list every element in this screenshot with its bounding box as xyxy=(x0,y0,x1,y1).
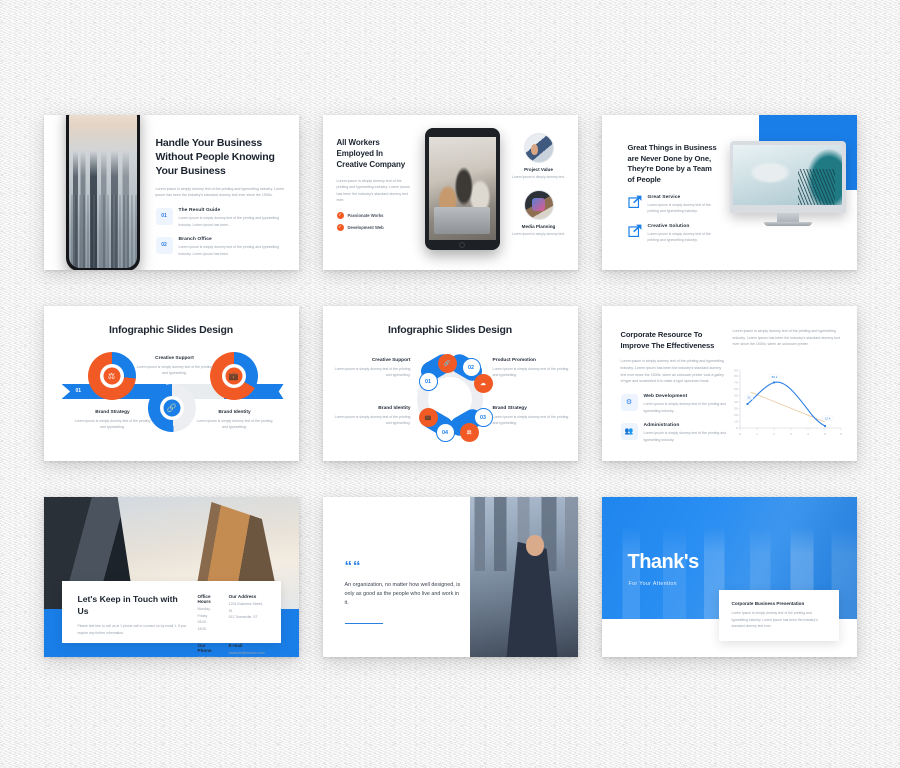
label-text: Lorem ipsum is simply dummy text of the … xyxy=(196,418,274,431)
feature-title: Branch Office xyxy=(179,237,287,242)
label-text: Lorem ipsum is simply dummy text of the … xyxy=(335,366,411,379)
svg-text:30: 30 xyxy=(734,407,738,411)
slide-infographic-ribbon[interactable]: Infographic Slides Design 01 02 03 04 ⚖ … xyxy=(44,306,299,461)
slide1-feature-2[interactable]: 02 Branch Office Lorem ipsum is simply d… xyxy=(156,237,287,257)
line-chart-svg: 01020 304050 607080 90 xyxy=(727,366,845,440)
slide2-cards: Project Value Lorem ipsum is simply dumm… xyxy=(510,133,568,237)
node-number-04: 04 xyxy=(436,423,455,442)
slide2-check-1: ✓ Passionate Works xyxy=(337,212,411,219)
slide-great-things[interactable]: Great Things in Business are Never Done … xyxy=(602,115,857,270)
column-line: 1234 Business Street, St xyxy=(229,601,265,614)
number-badge-icon: 01 xyxy=(156,208,173,225)
contact-col-email: E-mail example@domain.com example@domain… xyxy=(229,643,265,657)
slide5-title: Infographic Slides Design xyxy=(323,306,578,336)
slide6-feature-2[interactable]: 👥 Administration Lorem ipsum is simply d… xyxy=(621,423,727,443)
slide1-feature-1[interactable]: 01 The Result Guide Lorem ipsum is simpl… xyxy=(156,208,287,228)
slide2-card-2: Media Planning Lorem ipsum is simply dum… xyxy=(510,190,568,237)
slide1-content: Handle Your Business Without People Know… xyxy=(156,137,287,257)
svg-text:40: 40 xyxy=(734,400,738,404)
slide2-content: All Workers Employed In Creative Company… xyxy=(337,137,411,231)
svg-text:90: 90 xyxy=(734,369,738,373)
feature-text: Lorem ipsum is simply dummy text of the … xyxy=(648,202,720,215)
contact-col-address: Our Address 1234 Business Street, St 512… xyxy=(229,594,265,633)
slide6-content: Corporate Resource To Improve The Effect… xyxy=(621,330,727,443)
svg-text:4: 4 xyxy=(807,432,809,436)
svg-text:2: 2 xyxy=(773,432,775,436)
node-number-02: 02 xyxy=(462,358,481,377)
tablet-mockup xyxy=(425,128,500,250)
imac-stand-neck xyxy=(777,213,799,222)
slide3-title: Great Things in Business are Never Done … xyxy=(628,143,720,186)
column-heading: E-mail xyxy=(229,643,265,648)
imac-screen-architecture-photo xyxy=(733,145,842,206)
check-circle-icon: ✓ xyxy=(337,212,344,219)
contact-col-phone: Our Phone (123) 4567 - 8910 (123) 4567 8… xyxy=(198,643,217,657)
donut-chart-3: 💼 xyxy=(210,352,258,400)
slide6-right-paragraph-wrap: Lorem ipsum is simply dummy text of the … xyxy=(733,328,843,348)
thanks-title: Thank's xyxy=(628,551,699,574)
step-number: 01 xyxy=(76,388,82,394)
circle-label-brand-strategy: Brand Strategy Lorem ipsum is simply dum… xyxy=(493,406,569,426)
node-icon-cloud: ☁ xyxy=(474,374,493,393)
businessman-photo xyxy=(470,497,578,657)
donut-chart-2: 🔗 xyxy=(148,384,196,432)
svg-text:60: 60 xyxy=(734,387,738,391)
check-circle-icon: ✓ xyxy=(337,224,344,231)
node-icon-handshake: ⚖ xyxy=(460,423,479,442)
thanks-card: Corporate Business Presentation Lorem ip… xyxy=(719,590,839,641)
svg-text:0: 0 xyxy=(739,432,741,436)
contact-card: Let's Keep in Touch with Us Please feel … xyxy=(62,581,281,643)
external-link-icon xyxy=(628,195,643,208)
column-line: example@domain.com xyxy=(229,650,265,657)
slide-infographic-circle[interactable]: Infographic Slides Design 🔗 02 01 ☁ 💼 03… xyxy=(323,306,578,461)
number-badge-icon: 02 xyxy=(156,237,173,254)
svg-text:80: 80 xyxy=(734,374,738,378)
label-text: Lorem ipsum is simply dummy text of the … xyxy=(136,364,214,377)
label-title: Brand Strategy xyxy=(74,410,152,415)
svg-text:70: 70 xyxy=(734,381,738,385)
slide-all-workers[interactable]: All Workers Employed In Creative Company… xyxy=(323,115,578,270)
node-icon-briefcase: 💼 xyxy=(419,408,438,427)
column-heading: Office Hours xyxy=(198,594,217,604)
node-number-03: 03 xyxy=(474,408,493,427)
slide-handle-your-business[interactable]: Handle Your Business Without People Know… xyxy=(44,115,299,270)
feature-text: Lorem ipsum is simply dummy text of the … xyxy=(644,430,727,443)
slide4-title: Infographic Slides Design xyxy=(44,306,299,336)
code-icon: ⚙ xyxy=(621,394,638,411)
infographic-label-brand-strategy: Brand Strategy Lorem ipsum is simply dum… xyxy=(74,410,152,430)
svg-text:12.4: 12.4 xyxy=(824,417,830,421)
imac-screen xyxy=(730,141,846,213)
svg-text:20: 20 xyxy=(734,413,738,417)
feature-text: Lorem ipsum is simply dummy text of the … xyxy=(644,401,727,414)
check-label: Development Web xyxy=(348,225,384,230)
column-heading: Our Address xyxy=(229,594,265,599)
contact-col-office-hours: Office Hours Monday - Friday 08:00 - 18:… xyxy=(198,594,217,633)
slide-keep-in-touch[interactable]: Let's Keep in Touch with Us Please feel … xyxy=(44,497,299,657)
contact-title: Let's Keep in Touch with Us xyxy=(78,594,190,617)
slide1-paragraph: Lorem ipsum is simply dummy text of the … xyxy=(156,186,287,199)
quote-mark-icon: ““ xyxy=(345,559,461,574)
infographic-label-creative-support: Creative Support Lorem ipsum is simply d… xyxy=(136,356,214,376)
imac-stand-base xyxy=(764,222,812,226)
feature-title: Creative Solution xyxy=(648,224,720,229)
link-icon: 🔗 xyxy=(163,400,180,417)
svg-text:3: 3 xyxy=(790,432,792,436)
label-text: Lorem ipsum is simply dummy text of the … xyxy=(493,366,569,379)
slide6-feature-1[interactable]: ⚙ Web Development Lorem ipsum is simply … xyxy=(621,394,727,414)
tablet-home-button xyxy=(459,242,465,248)
briefcase-icon: 💼 xyxy=(225,368,242,385)
feature-title: The Result Guide xyxy=(179,208,287,213)
slide6-right-paragraph: Lorem ipsum is simply dummy text of the … xyxy=(733,328,843,348)
feature-title: Great Service xyxy=(648,195,720,200)
column-line: Monday - Friday xyxy=(198,606,217,619)
thanks-card-text: Lorem ipsum is simply dummy text of the … xyxy=(732,610,826,630)
circle-photo xyxy=(524,133,554,163)
label-title: Brand Identity xyxy=(335,406,411,411)
feature-title: Administration xyxy=(644,423,727,428)
column-heading: Our Phone xyxy=(198,643,217,653)
users-icon: 👥 xyxy=(621,423,638,440)
donut-chart-1: ⚖ xyxy=(88,352,136,400)
thanks-subtitle: For Your Attention xyxy=(629,581,677,587)
handshake-icon: ⚖ xyxy=(103,368,120,385)
svg-text:80.2: 80.2 xyxy=(771,375,777,379)
step-number: 04 xyxy=(268,388,274,394)
slide-corporate-resource[interactable]: Corporate Resource To Improve The Effect… xyxy=(602,306,857,461)
label-text: Lorem ipsum is simply dummy text of the … xyxy=(493,414,569,427)
phone-mockup xyxy=(66,115,140,270)
infographic-label-brand-identity: Brand Identity Lorem ipsum is simply dum… xyxy=(196,410,274,430)
column-line: example@domain.com xyxy=(229,656,265,657)
label-text: Lorem ipsum is simply dummy text of the … xyxy=(335,414,411,427)
feature-text: Lorem ipsum is simply dummy text of the … xyxy=(179,244,287,257)
label-title: Product Promotion xyxy=(493,358,569,363)
tablet-screen-team-photo xyxy=(429,137,496,240)
column-line: 08:00 - 18:00 xyxy=(198,619,217,632)
svg-text:1: 1 xyxy=(756,432,758,436)
circle-label-brand-identity: Brand Identity Lorem ipsum is simply dum… xyxy=(335,406,411,426)
imac-mockup xyxy=(730,141,846,226)
slide2-title: All Workers Employed In Creative Company xyxy=(337,137,411,171)
slide-thanks[interactable]: Thank's For Your Attention Corporate Bus… xyxy=(602,497,857,657)
card-title: Project Value xyxy=(510,167,568,172)
feature-text: Lorem ipsum is simply dummy text of the … xyxy=(648,231,720,244)
contact-note: Please feel free to call us at 1 phone c… xyxy=(78,623,190,636)
label-title: Brand Identity xyxy=(196,410,274,415)
slide2-check-2: ✓ Development Web xyxy=(337,224,411,231)
svg-text:50: 50 xyxy=(734,394,738,398)
thanks-card-title: Corporate Business Presentation xyxy=(732,601,826,606)
svg-text:5: 5 xyxy=(824,432,826,436)
quote-divider xyxy=(345,623,383,624)
label-title: Creative Support xyxy=(335,358,411,363)
card-text: Lorem ipsum is simply dummy text. xyxy=(510,231,568,237)
slide3-feature-1[interactable]: Great Service Lorem ipsum is simply dumm… xyxy=(628,195,720,215)
label-title: Brand Strategy xyxy=(493,406,569,411)
card-text: Lorem ipsum is simply dummy text. xyxy=(510,174,568,180)
slide3-feature-2[interactable]: Creative Solution Lorem ipsum is simply … xyxy=(628,224,720,244)
quote-text: An organization, no matter how well desi… xyxy=(345,581,461,609)
column-line: (123) 4567 - 8910 xyxy=(198,655,217,657)
svg-text:0: 0 xyxy=(735,426,737,430)
slide2-card-1: Project Value Lorem ipsum is simply dumm… xyxy=(510,133,568,180)
slide1-title: Handle Your Business Without People Know… xyxy=(156,137,287,179)
slide-quote[interactable]: ““ An organization, no matter how well d… xyxy=(323,497,578,657)
node-number-01: 01 xyxy=(419,372,438,391)
check-label: Passionate Works xyxy=(348,213,384,218)
slide3-content: Great Things in Business are Never Done … xyxy=(628,143,720,244)
slide-grid: Handle Your Business Without People Know… xyxy=(0,0,900,768)
column-line: 512 Townsville, ST xyxy=(229,614,265,621)
slide6-paragraph: Lorem ipsum is simply dummy text of the … xyxy=(621,358,727,385)
svg-text:10: 10 xyxy=(734,420,738,424)
external-link-icon xyxy=(628,224,643,237)
node-icon-link: 🔗 xyxy=(438,354,457,373)
svg-text:52: 52 xyxy=(747,396,751,400)
circle-label-creative-support: Creative Support Lorem ipsum is simply d… xyxy=(335,358,411,378)
svg-text:6: 6 xyxy=(840,432,842,436)
circle-label-product-promotion: Product Promotion Lorem ipsum is simply … xyxy=(493,358,569,378)
phone-screen-cityscape xyxy=(69,115,137,268)
circle-photo xyxy=(524,190,554,220)
feature-title: Web Development xyxy=(644,394,727,399)
feature-text: Lorem ipsum is simply dummy text of the … xyxy=(179,215,287,228)
label-title: Creative Support xyxy=(136,356,214,361)
quote-content: ““ An organization, no matter how well d… xyxy=(345,559,461,624)
line-chart: 01020 304050 607080 90 xyxy=(727,366,845,440)
person-head xyxy=(526,535,544,556)
slide6-title: Corporate Resource To Improve The Effect… xyxy=(621,330,727,351)
slide2-paragraph: Lorem ipsum is simply dummy text of the … xyxy=(337,178,411,205)
label-text: Lorem ipsum is simply dummy text of the … xyxy=(74,418,152,431)
card-title: Media Planning xyxy=(510,224,568,229)
